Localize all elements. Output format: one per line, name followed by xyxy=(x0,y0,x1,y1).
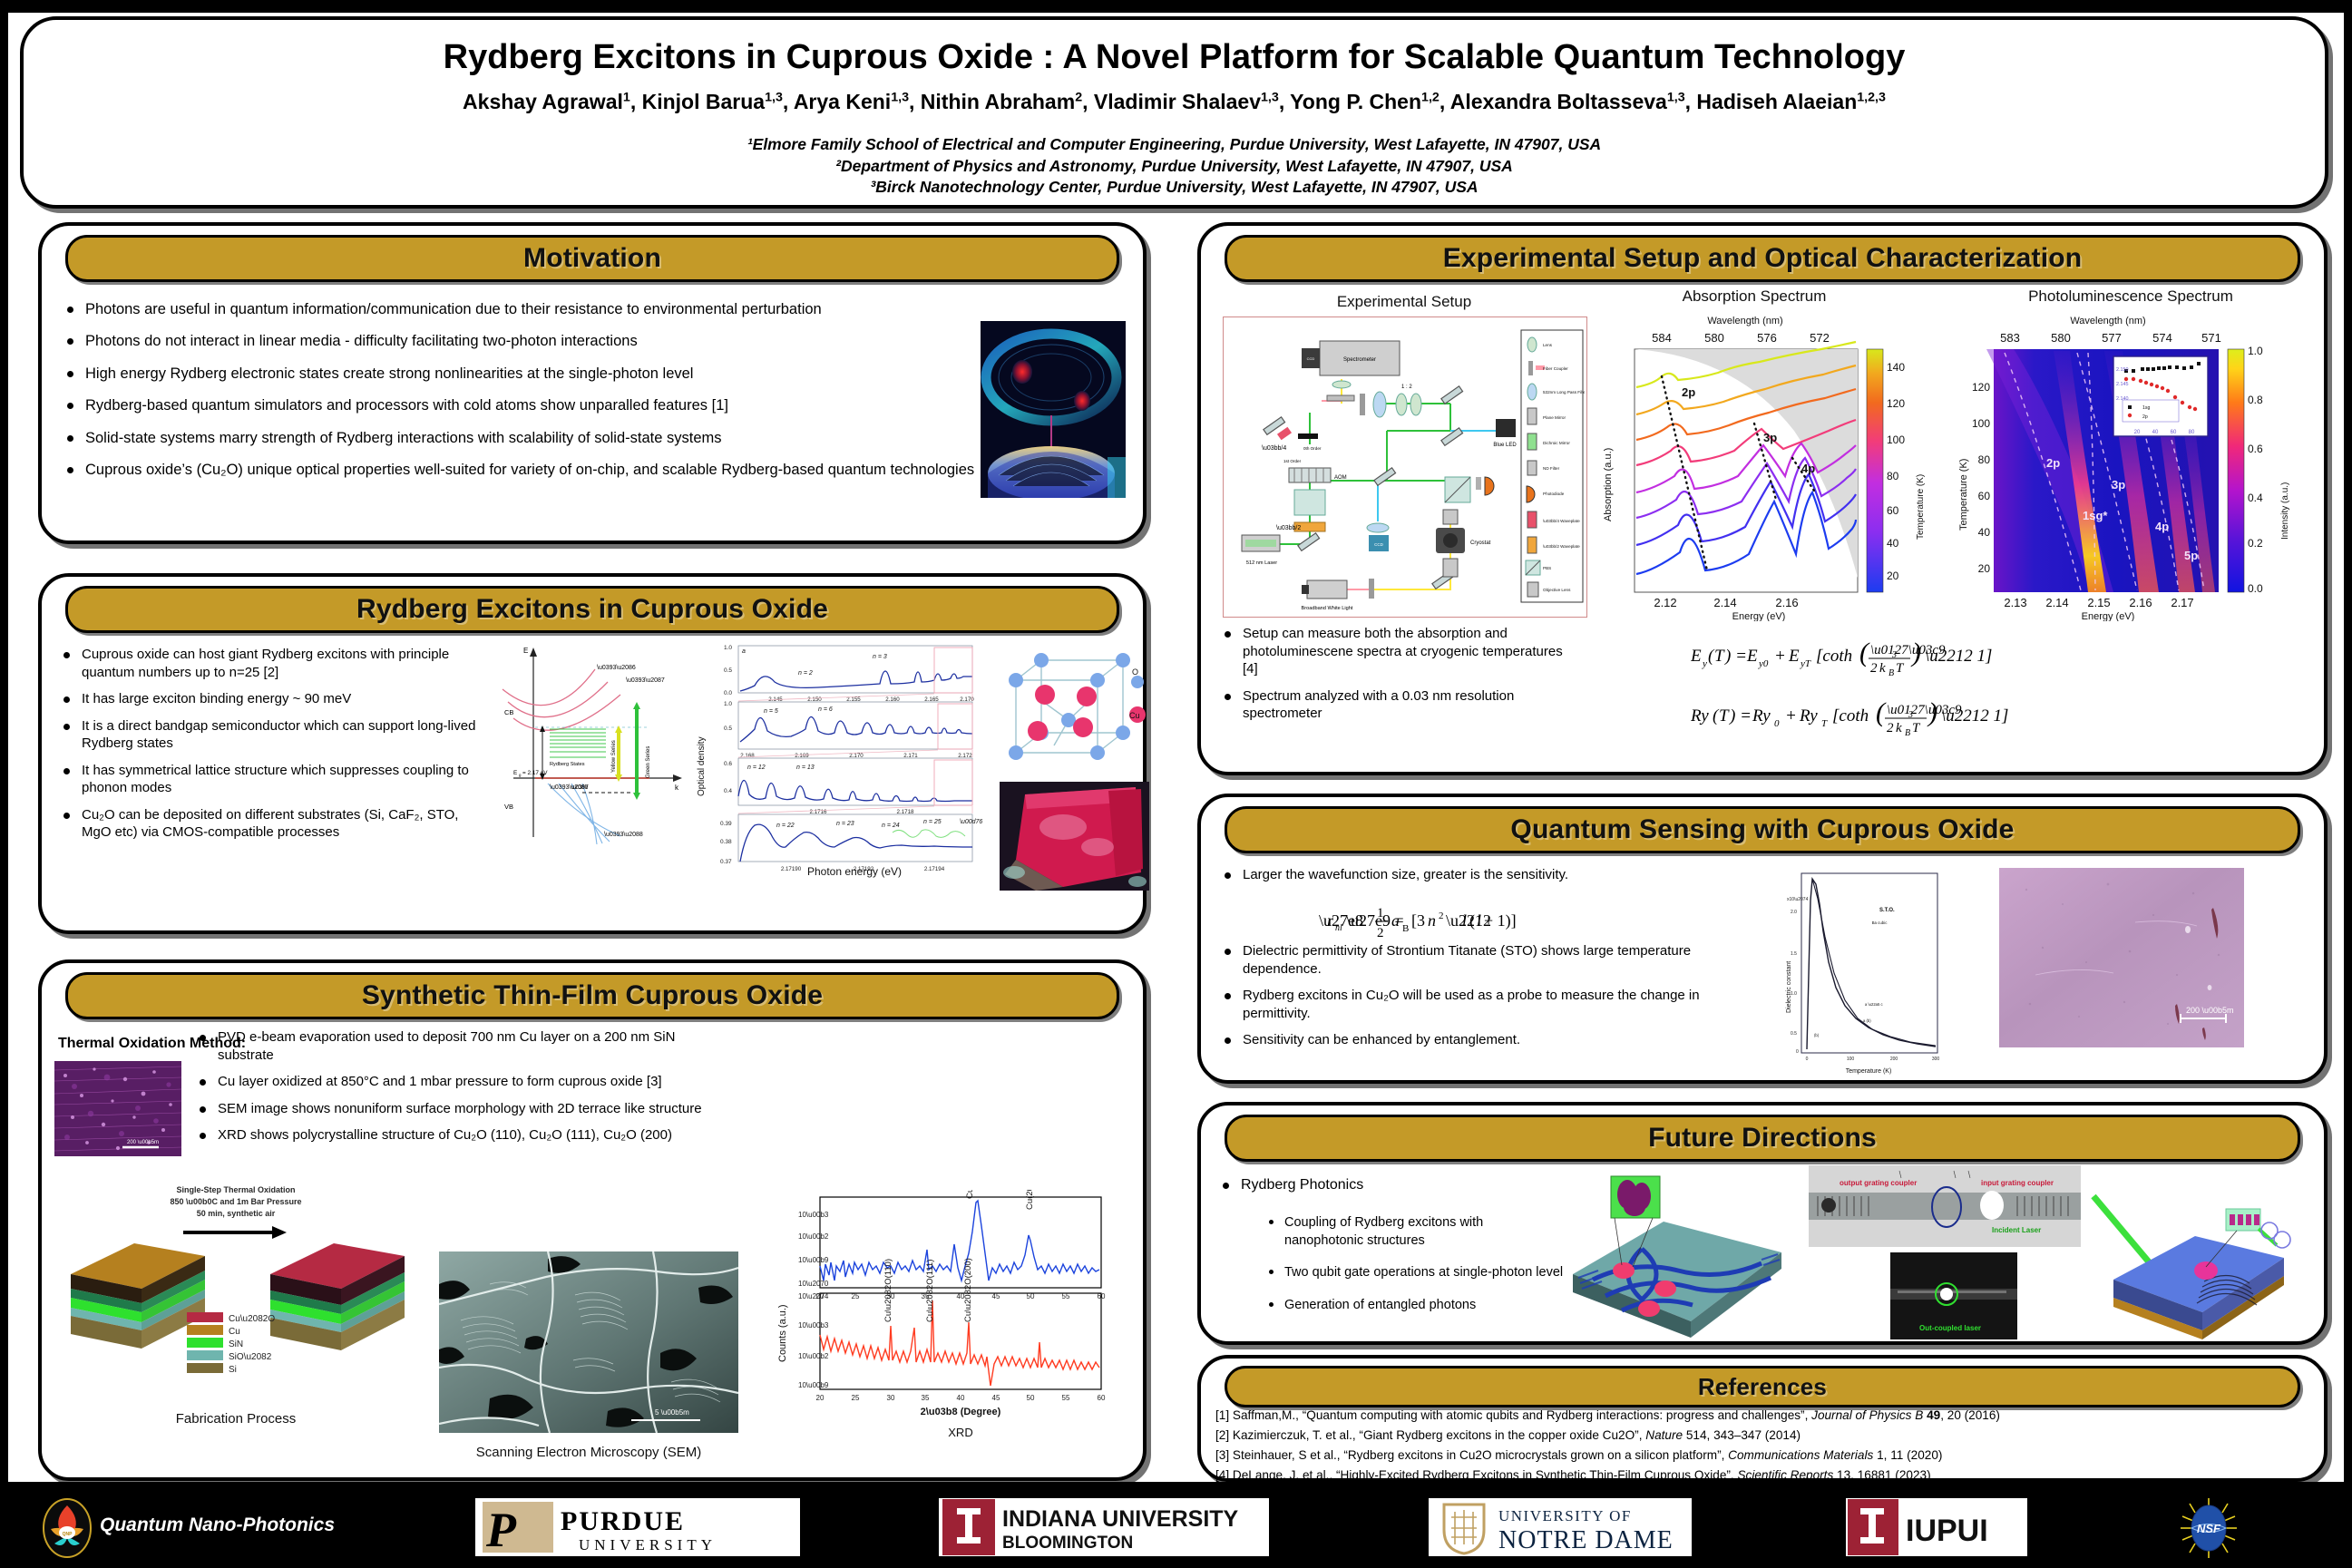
svg-text:a \u22a5 c: a \u22a5 c xyxy=(1865,1002,1883,1007)
svg-text:Counts (a.u.): Counts (a.u.) xyxy=(777,1304,788,1362)
svg-text:Si: Si xyxy=(229,1365,237,1375)
svg-text:576: 576 xyxy=(1757,331,1777,345)
svg-text:20: 20 xyxy=(2134,430,2141,435)
svg-text:10\u00b3: 10\u00b3 xyxy=(798,1211,829,1219)
svg-text:E: E xyxy=(513,770,517,776)
svg-text:55: 55 xyxy=(1062,1292,1070,1300)
list-item: Cuprous oxide can host giant Rydberg exc… xyxy=(58,646,484,681)
svg-text:AOM: AOM xyxy=(1334,475,1347,481)
svg-text:2.168: 2.168 xyxy=(740,753,755,759)
future-sub-bullets: Coupling of Rydberg excitons with nanoph… xyxy=(1264,1214,1564,1329)
svg-text:Cu(200): Cu(200) xyxy=(1025,1190,1035,1210)
svg-text:T: T xyxy=(1912,721,1921,735)
quantum-sensing-header: Quantum Sensing with Cuprous Oxide xyxy=(1225,806,2300,853)
pl-caption: Photoluminescence Spectrum xyxy=(1954,287,2308,306)
experimental-bullets: Setup can measure both the absorption an… xyxy=(1219,625,1564,732)
svg-text:T: T xyxy=(1714,647,1725,666)
svg-text:Out-coupled laser: Out-coupled laser xyxy=(1919,1324,1981,1332)
svg-text:2.1718: 2.1718 xyxy=(897,809,914,815)
svg-text:1 : 2: 1 : 2 xyxy=(1401,385,1412,390)
svg-text:\u0393\u2087: \u0393\u2087 xyxy=(550,784,589,791)
svg-text:2p: 2p xyxy=(2142,414,2148,420)
svg-text:(: ( xyxy=(1876,697,1887,727)
fabrication-process-figure: Single-Step Thermal Oxidation 850 \u00b0… xyxy=(54,1176,417,1457)
svg-text:4p: 4p xyxy=(1801,462,1815,475)
svg-text:2: 2 xyxy=(1377,926,1384,940)
svg-text:0: 0 xyxy=(1806,1057,1809,1062)
svg-text:2.170: 2.170 xyxy=(849,753,864,759)
band-structure-figure: Ek CBVB Rydberg States Eg= 2.17 eV xyxy=(495,642,686,851)
group-name: Quantum Nano-Photonics xyxy=(100,1514,335,1536)
svg-text:) =: ) = xyxy=(1729,706,1752,726)
svg-text:Lens: Lens xyxy=(1543,343,1553,347)
setup-caption: Experimental Setup xyxy=(1223,293,1586,311)
sensing-bullets-2: Dielectric permittivity of Strontium Tit… xyxy=(1219,942,1745,1058)
motivation-panel: Motivation Photons are useful in quantum… xyxy=(38,222,1147,544)
svg-text:SiN: SiN xyxy=(229,1339,243,1349)
svg-text:n = 24: n = 24 xyxy=(882,823,900,829)
affiliations: ¹Elmore Family School of Electrical and … xyxy=(24,134,2325,199)
list-item: PVD e-beam evaporation used to deposit 7… xyxy=(194,1028,720,1064)
synthetic-thinfilm-header: Synthetic Thin-Film Cuprous Oxide xyxy=(65,972,1119,1019)
svg-text:2.16: 2.16 xyxy=(2129,596,2152,609)
page-title: Rydberg Excitons in Cuprous Oxide : A No… xyxy=(24,38,2325,77)
svg-text:Temperature (K): Temperature (K) xyxy=(1846,1068,1892,1075)
svg-text:2: 2 xyxy=(1887,721,1894,735)
svg-text:0: 0 xyxy=(1796,1049,1799,1055)
svg-text:a: a xyxy=(742,648,746,655)
svg-text:[coth: [coth xyxy=(1816,647,1852,666)
svg-text:\u0393\u2086: \u0393\u2086 xyxy=(597,665,636,671)
svg-text:0th Order: 0th Order xyxy=(1303,446,1322,451)
sem-caption: Scanning Electron Microscopy (SEM) xyxy=(439,1445,738,1460)
svg-text:2.150: 2.150 xyxy=(807,696,822,703)
svg-text:[coth: [coth xyxy=(1832,706,1869,726)
footer-bar: QNP Quantum Nano-Photonics P PURDUE UNIV… xyxy=(0,1487,2352,1568)
svg-text:\u2212 1]: \u2212 1] xyxy=(1941,706,2008,726)
list-item: Larger the wavefunction size, greater is… xyxy=(1219,866,1736,884)
svg-text:Cu: Cu xyxy=(229,1327,240,1337)
svg-text:532nm Long Pass Filter: 532nm Long Pass Filter xyxy=(1543,390,1585,394)
svg-text:571: 571 xyxy=(2201,331,2221,345)
svg-text:Energy (eV): Energy (eV) xyxy=(2082,611,2135,621)
svg-text:1.0: 1.0 xyxy=(2248,345,2263,357)
svg-text:B: B xyxy=(1402,923,1409,934)
list-item: It has symmetrical lattice structure whi… xyxy=(58,762,484,797)
svg-text:CCD: CCD xyxy=(1374,542,1383,547)
svg-text:S.T.O.: S.T.O. xyxy=(1879,908,1895,913)
svg-text:\u2212 1]: \u2212 1] xyxy=(1925,647,1992,666)
svg-text:100: 100 xyxy=(1847,1057,1855,1062)
svg-text:2.17: 2.17 xyxy=(2171,596,2193,609)
svg-text:= 2.17 eV: = 2.17 eV xyxy=(522,770,548,776)
svg-text:T: T xyxy=(1896,661,1905,676)
svg-text:\u03bb/2: \u03bb/2 xyxy=(1276,525,1301,531)
reference-item: [3] Steinhauer, S et al., “Rydberg excit… xyxy=(1215,1446,2309,1466)
svg-text:2.150: 2.150 xyxy=(2116,367,2129,373)
svg-text:577: 577 xyxy=(2102,331,2122,345)
svg-text:25: 25 xyxy=(852,1394,860,1402)
svg-text:\u0393\u2087: \u0393\u2087 xyxy=(626,677,665,684)
svg-text:140: 140 xyxy=(1887,361,1905,374)
svg-text:55: 55 xyxy=(1062,1394,1070,1402)
svg-text:25: 25 xyxy=(852,1292,860,1300)
affiliation-3: ³Birck Nanotechnology Center, Purdue Uni… xyxy=(24,177,2325,199)
svg-text:BLOOMINGTON: BLOOMINGTON xyxy=(1002,1534,1133,1553)
svg-text:1.0: 1.0 xyxy=(724,645,732,651)
sto-dielectric-chart: x10\u20742.01.5 1.00.50 0100200300 S.T.O… xyxy=(1781,868,1954,1076)
list-item: Rydberg-based quantum simulators and pro… xyxy=(62,396,996,415)
svg-text:2p: 2p xyxy=(1682,385,1695,399)
svg-text:Temperature (K): Temperature (K) xyxy=(1916,474,1926,540)
svg-text:Ba cubic: Ba cubic xyxy=(1872,920,1888,925)
svg-text:E: E xyxy=(1691,647,1702,666)
svg-text:2.165: 2.165 xyxy=(924,696,939,703)
svg-text:T: T xyxy=(1719,706,1730,726)
svg-text:2.171: 2.171 xyxy=(903,753,918,759)
list-item: Cu₂O can be deposited on different subst… xyxy=(58,806,484,842)
svg-text:2.16: 2.16 xyxy=(1775,596,1798,609)
svg-text:n = 25: n = 25 xyxy=(923,819,942,825)
svg-text:y: y xyxy=(1702,658,1707,669)
svg-text:20: 20 xyxy=(816,1292,825,1300)
svg-text:1sg*: 1sg* xyxy=(2083,509,2108,522)
sensing-bullets: Larger the wavefunction size, greater is… xyxy=(1219,866,1736,888)
nsf-logo: NSF xyxy=(2177,1496,2240,1560)
list-item: Cu layer oxidized at 850°C and 1 mbar pr… xyxy=(194,1073,720,1091)
svg-text:Ry: Ry xyxy=(1691,706,1709,726)
svg-text:yT: yT xyxy=(1800,658,1811,669)
svg-text:2\u03b8 (Degree): 2\u03b8 (Degree) xyxy=(921,1407,1001,1417)
svg-text:0.8: 0.8 xyxy=(2248,394,2263,406)
list-item: Spectrum analyzed with a 0.03 nm resolut… xyxy=(1219,687,1564,723)
svg-text:0.38: 0.38 xyxy=(720,839,732,845)
optical-setup-schematic: Spectrometer CCD 1 : 2 \u03bb/4 0th Orde… xyxy=(1223,317,1587,618)
svg-text:60: 60 xyxy=(2171,430,2177,435)
svg-text:60: 60 xyxy=(1887,504,1899,517)
svg-text:Incident Laser: Incident Laser xyxy=(1992,1226,2041,1234)
svg-text:\u03bb/4 Waveplate: \u03bb/4 Waveplate xyxy=(1543,519,1580,523)
absorption-caption: Absorption Spectrum xyxy=(1591,287,1918,306)
svg-text:n = 23: n = 23 xyxy=(836,821,854,827)
equation-ry: Ry (T) = Ry0 + RyT [coth ( \u0127\u03c93… xyxy=(1691,692,2289,746)
svg-text:) =: ) = xyxy=(1724,647,1747,666)
svg-text:300: 300 xyxy=(1932,1057,1940,1062)
list-item: Sensitivity can be enhanced by entanglem… xyxy=(1219,1031,1745,1049)
svg-text:1.5: 1.5 xyxy=(1791,951,1797,957)
svg-text:n: n xyxy=(1428,911,1436,930)
rydberg-bullets: Cuprous oxide can host giant Rydberg exc… xyxy=(58,646,484,851)
list-item: It has large exciton binding energy ~ 90… xyxy=(58,690,484,708)
svg-text:Objective Lens: Objective Lens xyxy=(1543,588,1571,592)
svg-text:): ) xyxy=(1927,697,1937,727)
references-header: References xyxy=(1225,1366,2300,1407)
svg-text:50 min, synthetic air: 50 min, synthetic air xyxy=(197,1209,276,1218)
sem-image-figure: 5 \u00b5m Scanning Electron Microscopy (… xyxy=(439,1251,738,1458)
pl-spectrum-chart: Wavelength (nm) 583580577574571 xyxy=(1945,313,2308,621)
sensing-equation: \u27e8r nl\u27e9 = 12 aB [3n 2\u2212 l( … xyxy=(1319,899,1591,947)
svg-text:\u0393\u2088: \u0393\u2088 xyxy=(604,832,643,838)
svg-text:r: r xyxy=(1327,911,1334,930)
svg-text:Cu: Cu xyxy=(1129,711,1140,720)
svg-text:Wavelength (nm): Wavelength (nm) xyxy=(2070,316,2145,326)
experimental-setup-panel: Experimental Setup and Optical Character… xyxy=(1197,222,2328,775)
svg-text:Cu\u2082O(200): Cu\u2082O(200) xyxy=(963,1258,973,1322)
future-bullets: Rydberg Photonics xyxy=(1217,1176,1535,1201)
xrd-chart: 10\u00b310\u00b210\u00b910\u2070 10\u207… xyxy=(767,1190,1130,1462)
svg-text:583: 583 xyxy=(2000,331,2020,345)
svg-text:l: l xyxy=(1477,911,1481,930)
svg-text:3p: 3p xyxy=(2112,478,2125,492)
svg-text:Wavelength (nm): Wavelength (nm) xyxy=(1707,316,1782,326)
equation-ey: Ey (T) = Ey0 + EyT [coth ( \u0127\u03c93… xyxy=(1691,632,2289,687)
svg-text:PURDUE: PURDUE xyxy=(561,1506,685,1536)
list-item: Coupling of Rydberg excitons with nanoph… xyxy=(1264,1214,1564,1250)
svg-text:Cu\u2082O(111): Cu\u2082O(111) xyxy=(925,1260,935,1322)
svg-text:512 nm Laser: 512 nm Laser xyxy=(1246,560,1277,566)
list-item: Cuprous oxide’s (Cu₂O) unique optical pr… xyxy=(62,461,996,480)
svg-text:n = 3: n = 3 xyxy=(873,654,887,660)
svg-text:0.0: 0.0 xyxy=(2248,582,2263,595)
svg-text:5p: 5p xyxy=(2184,549,2198,562)
svg-text:Temperature (K): Temperature (K) xyxy=(1958,459,1969,531)
svg-text:ND Filter: ND Filter xyxy=(1543,466,1560,471)
svg-text:0.2: 0.2 xyxy=(2248,537,2263,550)
experimental-setup-header: Experimental Setup and Optical Character… xyxy=(1225,235,2300,282)
svg-text:Ry: Ry xyxy=(1799,706,1818,726)
svg-text:10\u00b3: 10\u00b3 xyxy=(798,1321,829,1329)
outcoupled-laser-image: Out-coupled laser xyxy=(1890,1252,2017,1339)
indiana-university-logo: INDIANA UNIVERSITY BLOOMINGTON xyxy=(939,1498,1269,1556)
svg-text:Intensity (a.u.): Intensity (a.u.) xyxy=(2280,482,2290,540)
svg-text:0.4: 0.4 xyxy=(2248,492,2263,504)
svg-text:2.14: 2.14 xyxy=(1713,596,1736,609)
reference-item: [4] DeLange, J. et al., “Highly-Excited … xyxy=(1215,1466,2309,1485)
svg-text:0.0: 0.0 xyxy=(724,690,732,696)
svg-text:E: E xyxy=(1746,647,1758,666)
svg-text:input grating coupler: input grating coupler xyxy=(1981,1179,2054,1187)
svg-text:output grating coupler: output grating coupler xyxy=(1840,1179,1917,1187)
svg-text:CB: CB xyxy=(504,708,513,716)
blue-chip-illustration xyxy=(2090,1180,2298,1343)
svg-text:1sg: 1sg xyxy=(2142,405,2150,411)
svg-text:Cryostat: Cryostat xyxy=(1470,541,1491,546)
svg-text:a: a xyxy=(1391,911,1400,930)
svg-text:g: g xyxy=(519,773,522,777)
svg-text:\u03bb/2 Waveplate: \u03bb/2 Waveplate xyxy=(1543,544,1580,549)
author-list: Akshay Agrawal1, Kinjol Barua1,3, Arya K… xyxy=(24,90,2325,114)
svg-text:10\u00b9: 10\u00b9 xyxy=(798,1381,829,1389)
svg-text:10\u2074: 10\u2074 xyxy=(798,1292,829,1300)
svg-text:0.6: 0.6 xyxy=(724,761,732,767)
svg-text:572: 572 xyxy=(1810,331,1830,345)
qnp-logo: QNP xyxy=(40,1498,94,1558)
svg-text:+ 1)]: + 1)] xyxy=(1484,911,1517,930)
svg-text:CCD: CCD xyxy=(1307,356,1315,361)
svg-text:3p: 3p xyxy=(1763,431,1777,444)
svg-text:0.5: 0.5 xyxy=(724,726,732,732)
cuprite-lattice-figure: O Cu xyxy=(1000,644,1149,775)
affiliation-1: ¹Elmore Family School of Electrical and … xyxy=(24,134,2325,156)
svg-text:\u00d76: \u00d76 xyxy=(960,819,982,825)
svg-text:4p: 4p xyxy=(2155,520,2169,533)
svg-text:40: 40 xyxy=(957,1394,965,1402)
list-item: Setup can measure both the absorption an… xyxy=(1219,625,1564,678)
svg-text:2.13: 2.13 xyxy=(2004,596,2026,609)
svg-text:IUPUI: IUPUI xyxy=(1906,1514,1988,1548)
list-item: Dielectric permittivity of Strontium Tit… xyxy=(1219,942,1745,978)
svg-text:30: 30 xyxy=(887,1394,895,1402)
svg-text:PBS: PBS xyxy=(1543,566,1551,570)
svg-text:Cu(111): Cu(111) xyxy=(965,1190,975,1199)
list-item: High energy Rydberg electronic states cr… xyxy=(62,365,996,384)
svg-text:NOTRE DAME: NOTRE DAME xyxy=(1498,1526,1674,1554)
svg-text:Dichroic Mirror: Dichroic Mirror xyxy=(1543,441,1570,445)
svg-text:B: B xyxy=(1905,728,1910,738)
svg-text:UNIVERSITY: UNIVERSITY xyxy=(579,1536,717,1553)
svg-text:l: l xyxy=(1462,911,1467,930)
svg-text:1st Order: 1st Order xyxy=(1283,459,1302,463)
svg-text:80: 80 xyxy=(2189,430,2195,435)
svg-text:Fabrication Process: Fabrication Process xyxy=(176,1411,297,1427)
svg-text:INDIANA UNIVERSITY: INDIANA UNIVERSITY xyxy=(1002,1506,1239,1532)
reference-item: [2] Kazimierczuk, T. et al., “Giant Rydb… xyxy=(1215,1426,2309,1446)
svg-text:0.39: 0.39 xyxy=(720,821,732,827)
svg-text:): ) xyxy=(1910,638,1921,667)
svg-text:(: ( xyxy=(1469,911,1475,930)
svg-text:2.1716: 2.1716 xyxy=(810,809,827,815)
svg-text:nl: nl xyxy=(1335,923,1342,933)
rydberg-blockade-illustration xyxy=(981,321,1126,498)
svg-text:20: 20 xyxy=(1978,562,1991,575)
svg-text:60: 60 xyxy=(1098,1292,1106,1300)
title-panel: Rydberg Excitons in Cuprous Oxide : A No… xyxy=(20,16,2328,209)
svg-text:B: B xyxy=(1888,668,1894,678)
list-item: Generation of entangled photons xyxy=(1264,1297,1564,1315)
svg-text:100: 100 xyxy=(1887,433,1905,446)
svg-text:(: ( xyxy=(1859,638,1870,667)
svg-text:2.172: 2.172 xyxy=(958,753,972,759)
optical-density-xlabel: Photon energy (eV) xyxy=(718,865,991,878)
svg-text:574: 574 xyxy=(2152,331,2172,345)
svg-text:20: 20 xyxy=(1887,570,1899,582)
svg-text:y0: y0 xyxy=(1758,658,1769,669)
svg-text:Energy (eV): Energy (eV) xyxy=(1732,611,1786,621)
svg-text:2.12: 2.12 xyxy=(1654,596,1676,609)
svg-text:2.155: 2.155 xyxy=(846,696,861,703)
svg-text:T: T xyxy=(1821,718,1828,729)
notre-dame-logo: UNIVERSITY OF NOTRE DAME xyxy=(1429,1498,1692,1556)
svg-text:2.0: 2.0 xyxy=(1791,910,1797,915)
iupui-logo: IUPUI xyxy=(1846,1498,2027,1556)
svg-text:580: 580 xyxy=(2051,331,2071,345)
svg-text:Blue LED: Blue LED xyxy=(1493,443,1517,448)
svg-text:n = 5: n = 5 xyxy=(764,708,778,715)
svg-text:0: 0 xyxy=(1774,718,1780,729)
svg-text:0.5: 0.5 xyxy=(1791,1031,1797,1037)
svg-text:+: + xyxy=(1774,647,1786,666)
svg-text:Cu\u2082O: Cu\u2082O xyxy=(229,1314,275,1324)
svg-text:Fiber Coupler: Fiber Coupler xyxy=(1543,366,1568,371)
optical-density-figure: 1.00.50.0 1.00.5 0.60.4 0.390.380.37 2.1… xyxy=(691,642,991,878)
svg-text:45: 45 xyxy=(992,1292,1000,1300)
cuprous-oxide-crystal-photo xyxy=(1000,782,1149,891)
svg-text:100: 100 xyxy=(1972,417,1990,430)
svg-text:60: 60 xyxy=(1978,490,1991,502)
svg-text:+: + xyxy=(1785,706,1797,726)
svg-text:k: k xyxy=(675,784,679,792)
svg-text:n = 22: n = 22 xyxy=(776,823,795,829)
svg-text:60: 60 xyxy=(1098,1394,1106,1402)
list-item: XRD shows polycrystalline structure of C… xyxy=(194,1126,720,1144)
svg-text:1: 1 xyxy=(1377,906,1384,920)
svg-text:850 \u00b0C and 1m Bar Pressur: 850 \u00b0C and 1m Bar Pressure xyxy=(170,1197,301,1206)
list-item: Photons do not interact in linear media … xyxy=(62,332,996,351)
svg-text:580: 580 xyxy=(1704,331,1724,345)
svg-text:QNP: QNP xyxy=(63,1532,73,1537)
svg-text:n = 2: n = 2 xyxy=(798,670,813,677)
references-panel: References [1] Saffman,M., “Quantum comp… xyxy=(1197,1355,2328,1482)
svg-text:5 \u00b5m: 5 \u00b5m xyxy=(655,1408,689,1417)
svg-text:n = 6: n = 6 xyxy=(818,706,833,713)
svg-text:n = 13: n = 13 xyxy=(796,765,815,771)
svg-text:0.6: 0.6 xyxy=(2248,443,2263,455)
svg-text:UNIVERSITY OF: UNIVERSITY OF xyxy=(1498,1507,1632,1524)
svg-text:E: E xyxy=(1788,647,1800,666)
poster-root: Rydberg Excitons in Cuprous Oxide : A No… xyxy=(0,0,2352,1568)
svg-text:20: 20 xyxy=(816,1394,825,1402)
svg-text:Spectrometer: Spectrometer xyxy=(1343,357,1376,363)
svg-text:VB: VB xyxy=(504,803,513,811)
purdue-logo: P PURDUE UNIVERSITY xyxy=(475,1498,800,1556)
svg-text:2p: 2p xyxy=(2046,456,2060,470)
svg-text:40: 40 xyxy=(1887,537,1899,550)
svg-text:n = 12: n = 12 xyxy=(747,765,766,771)
list-item: Two qubit gate operations at single-phot… xyxy=(1264,1264,1564,1282)
svg-text:Single-Step Thermal Oxidation: Single-Step Thermal Oxidation xyxy=(176,1185,295,1194)
svg-text:0.4: 0.4 xyxy=(724,788,732,794)
svg-text:10\u00b2: 10\u00b2 xyxy=(798,1232,829,1241)
synthetic-thinfilm-panel: Synthetic Thin-Film Cuprous Oxide Therma… xyxy=(38,959,1147,1481)
list-item: Rydberg Photonics xyxy=(1217,1176,1535,1195)
list-item: Photons are useful in quantum informatio… xyxy=(62,300,996,319)
svg-text:80: 80 xyxy=(1887,470,1899,482)
list-item: Solid-state systems marry strength of Ry… xyxy=(62,429,996,448)
svg-text:584: 584 xyxy=(1652,331,1672,345)
svg-text:NSF: NSF xyxy=(2197,1522,2221,1535)
svg-text:Yellow Series: Yellow Series xyxy=(611,740,617,773)
svg-text:a (b): a (b) xyxy=(1863,1018,1871,1023)
svg-text:Absorption (a.u.): Absorption (a.u.) xyxy=(1603,448,1614,521)
svg-text:Broadband White Light: Broadband White Light xyxy=(1302,606,1353,611)
optical-micrograph: 200 \u00b5m xyxy=(54,1061,181,1156)
waveguide-micrograph: output grating coupler input grating cou… xyxy=(1809,1165,2081,1247)
svg-text:x10\u2074: x10\u2074 xyxy=(1787,897,1809,902)
svg-text:120: 120 xyxy=(1972,381,1990,394)
svg-text:50: 50 xyxy=(1027,1394,1035,1402)
future-directions-header: Future Directions xyxy=(1225,1115,2300,1162)
svg-text:0.5: 0.5 xyxy=(724,667,732,674)
svg-text:10\u2070: 10\u2070 xyxy=(798,1280,829,1288)
svg-text:200 \u00b5m: 200 \u00b5m xyxy=(2186,1006,2234,1015)
svg-text:2.169: 2.169 xyxy=(795,753,809,759)
svg-text:O: O xyxy=(1132,667,1138,677)
svg-text:Optical density: Optical density xyxy=(697,736,707,796)
experimental-equations: Ey (T) = Ey0 + EyT [coth ( \u0127\u03c93… xyxy=(1691,632,2289,746)
svg-text:0.37: 0.37 xyxy=(720,859,732,865)
svg-text:2: 2 xyxy=(1870,661,1878,676)
svg-text:45: 45 xyxy=(992,1394,1000,1402)
